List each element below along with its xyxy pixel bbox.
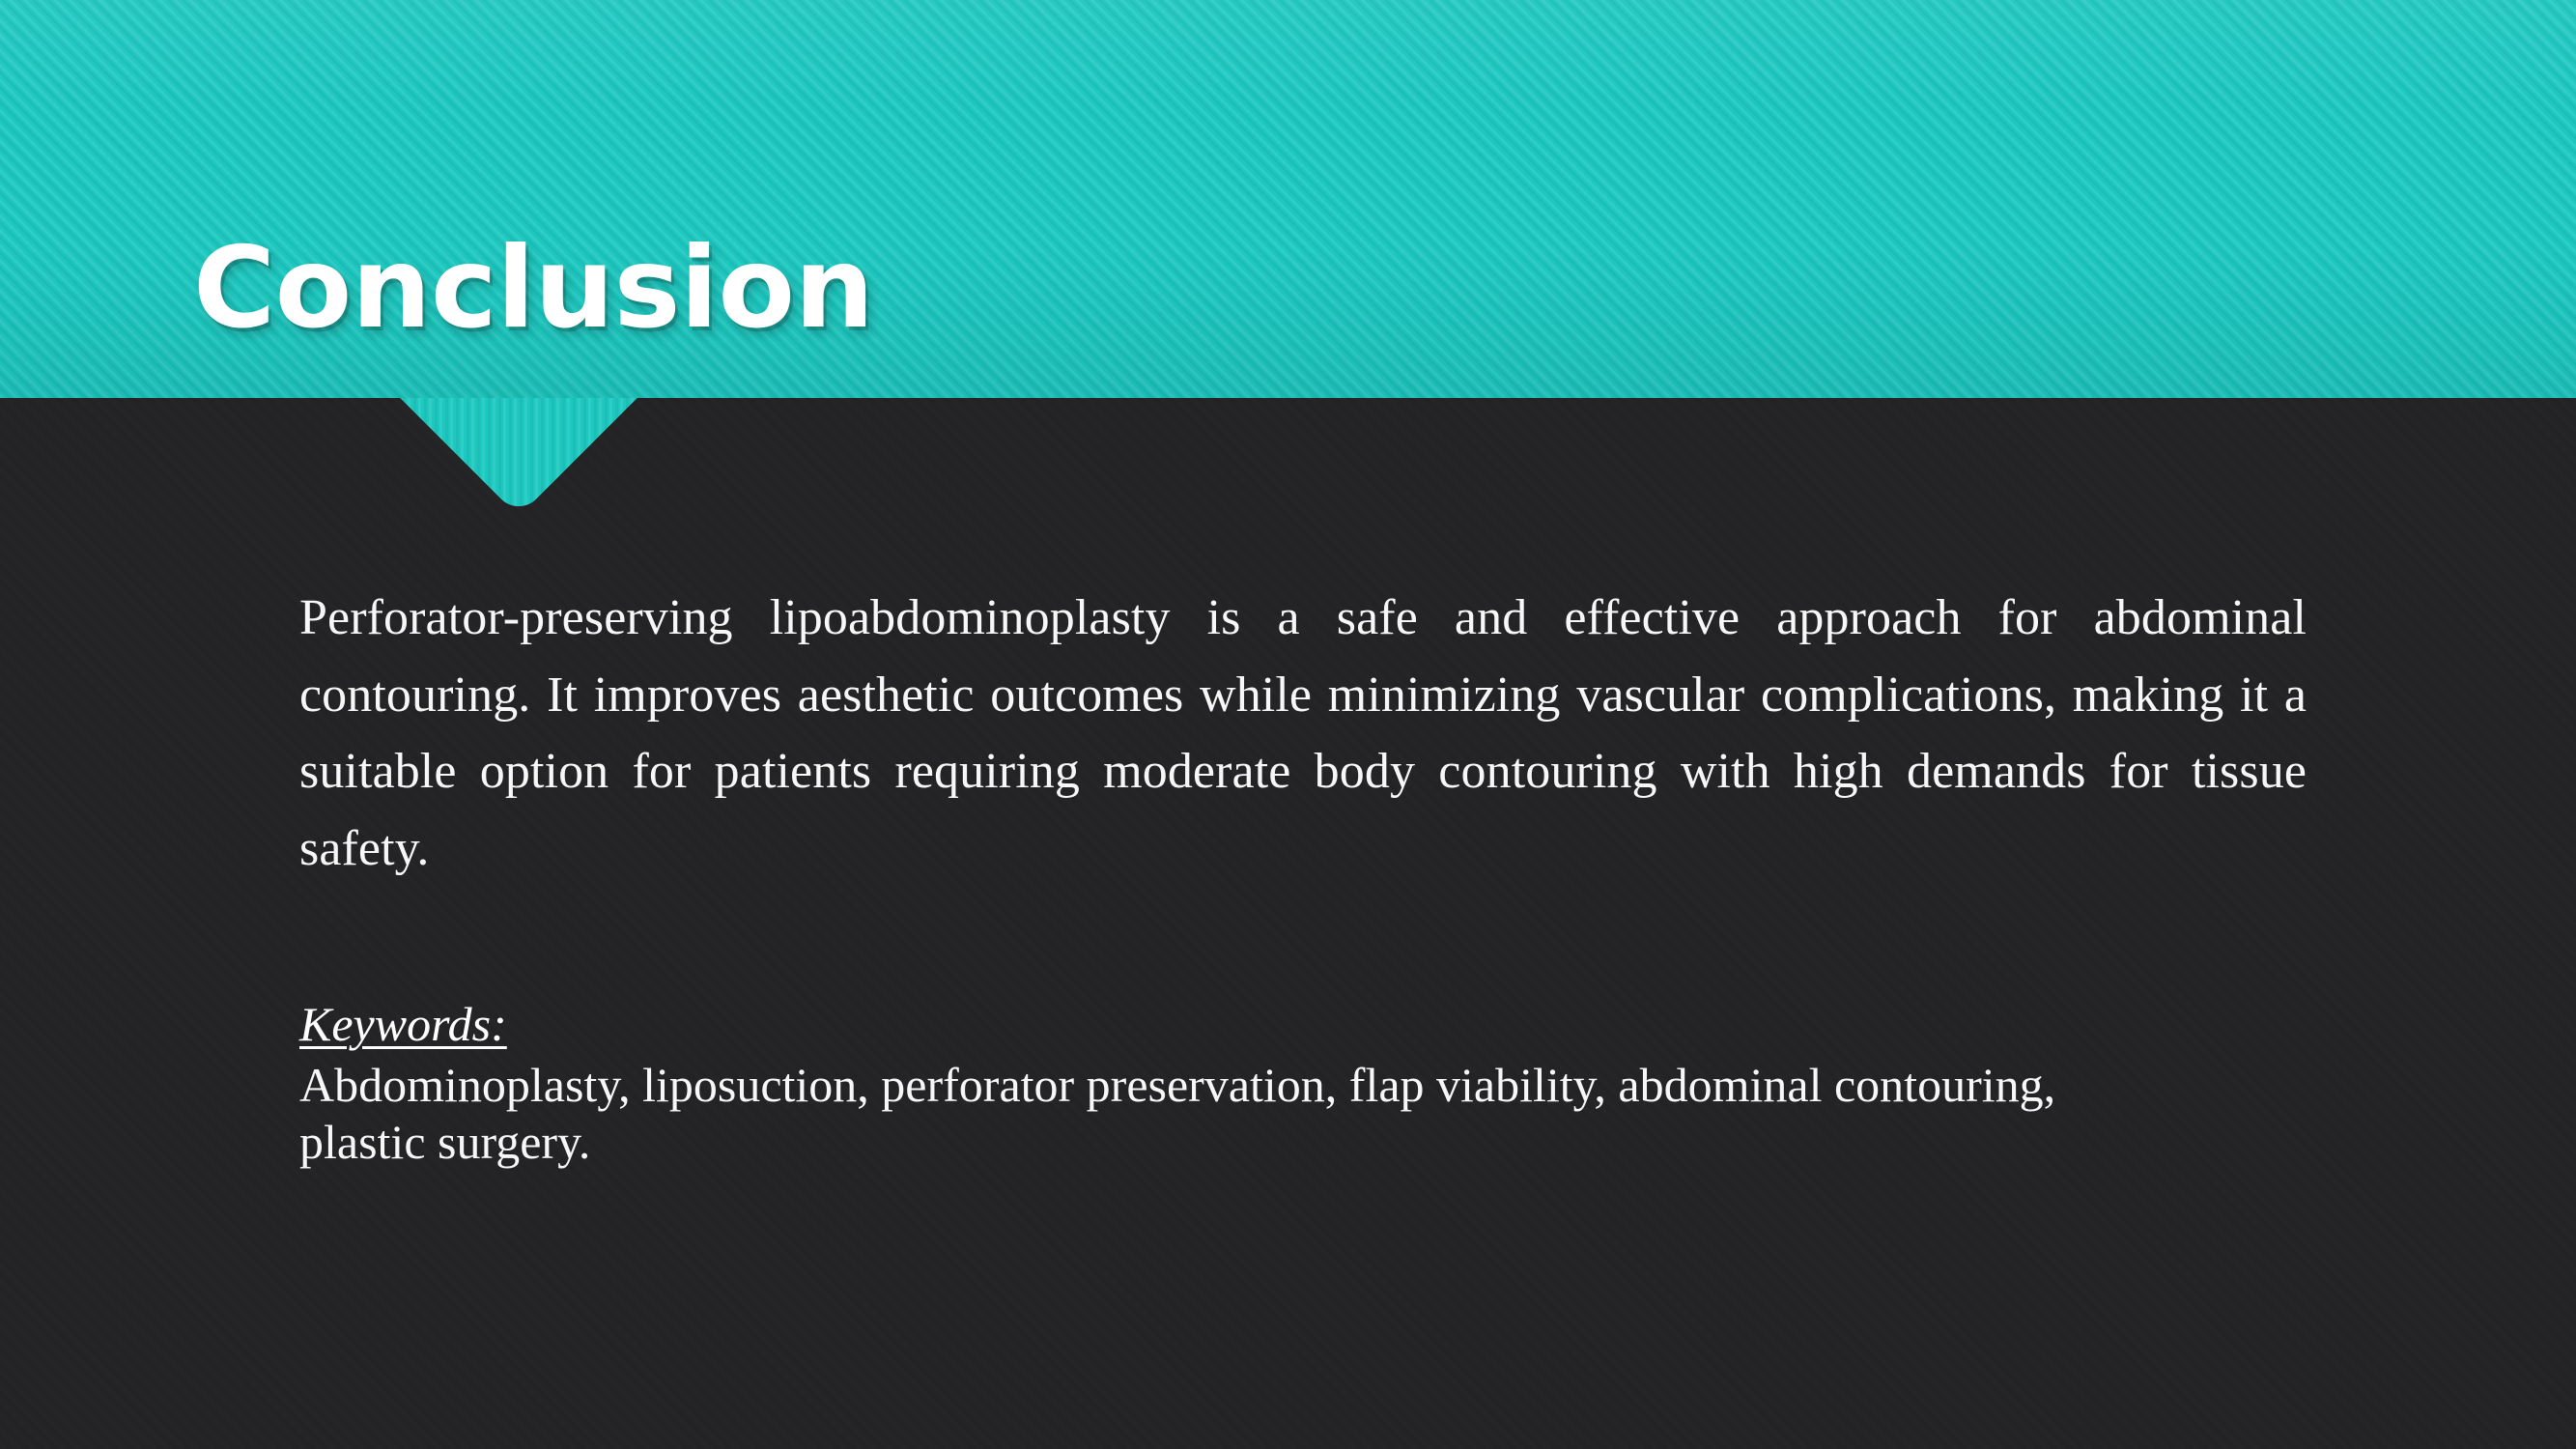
keywords-text: Abdominoplasty, liposuction, perforator …: [299, 1057, 2135, 1171]
slide-body: Perforator-preserving lipoabdominoplasty…: [299, 580, 2307, 1171]
banner-notch-triangle-icon: [397, 398, 640, 517]
keywords-section: Keywords: Abdominoplasty, liposuction, p…: [299, 995, 2307, 1171]
presentation-slide: Conclusion Perforator-preserving lipoabd…: [0, 0, 2576, 1449]
conclusion-paragraph: Perforator-preserving lipoabdominoplasty…: [299, 580, 2307, 964]
page-title: Conclusion: [193, 230, 874, 349]
keywords-label: Keywords:: [299, 995, 519, 1053]
